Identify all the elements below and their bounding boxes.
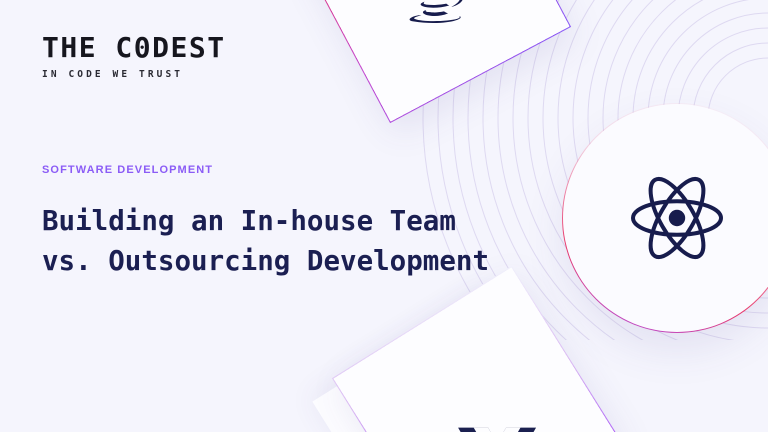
react-logo-icon bbox=[631, 172, 723, 264]
article-title-line-1: Building an In-house Team bbox=[42, 201, 572, 241]
article-category-label: SOFTWARE DEVELOPMENT bbox=[42, 165, 572, 176]
brand-logo-tagline: IN CODE WE TRUST bbox=[42, 70, 572, 80]
hero-content: THE C0DEST IN CODE WE TRUST SOFTWARE DEV… bbox=[42, 34, 572, 281]
article-title: Building an In-house Team vs. Outsourcin… bbox=[42, 201, 572, 282]
vue-tech-card bbox=[332, 266, 624, 432]
brand-logo[interactable]: THE C0DEST IN CODE WE TRUST bbox=[42, 34, 572, 80]
article-title-line-2: vs. Outsourcing Development bbox=[42, 241, 572, 281]
hero-banner: THE C0DEST IN CODE WE TRUST SOFTWARE DEV… bbox=[0, 0, 768, 432]
react-tech-card bbox=[562, 103, 768, 333]
vue-logo-icon bbox=[458, 422, 536, 432]
java-logo-icon bbox=[399, 0, 473, 27]
brand-logo-wordmark: THE C0DEST bbox=[42, 34, 572, 62]
